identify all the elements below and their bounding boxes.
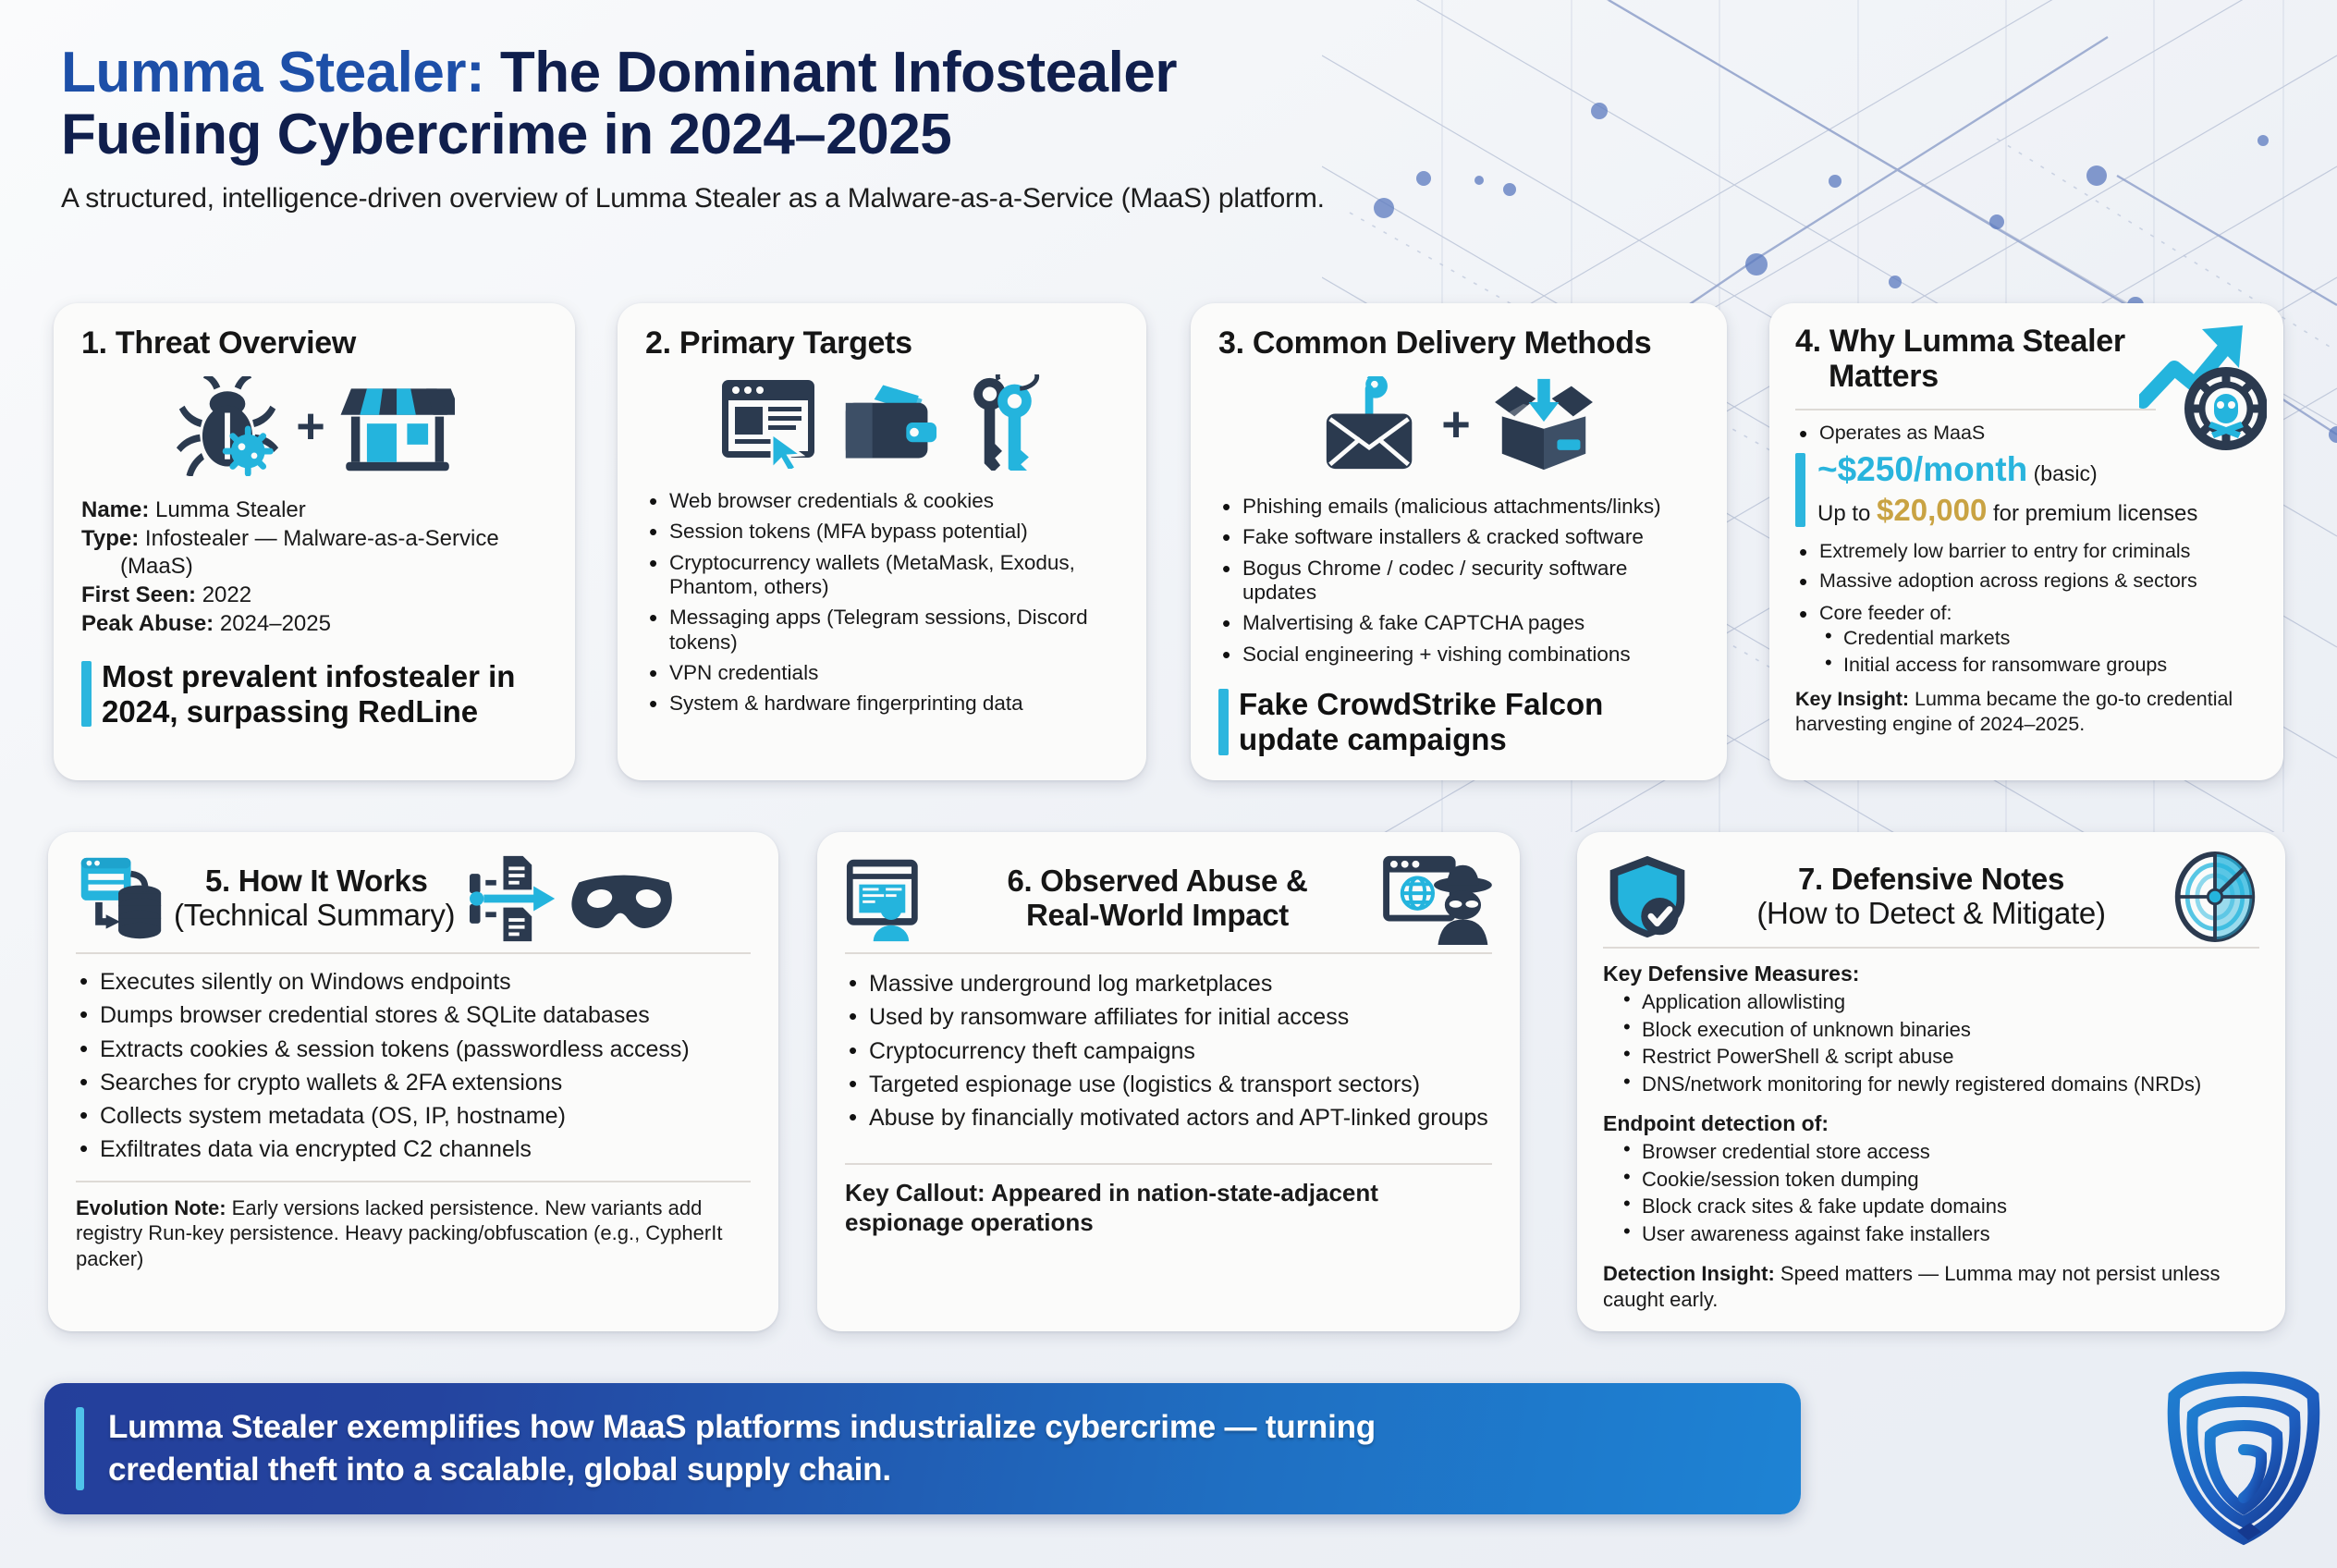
fact-name: Name: Lumma Stealer <box>81 496 547 525</box>
fact-peak-abuse: Peak Abuse: 2024–2025 <box>81 610 547 639</box>
footer-line2: credential theft into a scalable, global… <box>108 1452 891 1488</box>
card-defensive-notes[interactable]: 7. Defensive Notes (How to Detect & Miti… <box>1577 832 2285 1331</box>
card-6-divider <box>845 952 1492 954</box>
list-item: Browser credential store access <box>1618 1140 2259 1164</box>
card-5-title: 5. How It Works (Technical Summary) <box>174 864 455 933</box>
list-item: Messaging apps (Telegram sessions, Disco… <box>645 606 1119 655</box>
list-item: Executes silently on Windows endpoints <box>76 969 751 996</box>
footer-accent-bar <box>76 1407 84 1490</box>
title-brand: Lumma Stealer: <box>61 41 484 104</box>
card-7-title: 7. Defensive Notes (How to Detect & Miti… <box>1699 863 2163 931</box>
card-6-key-callout: Key Callout: Appeared in nation-state-ad… <box>845 1178 1492 1237</box>
radar-icon <box>2171 851 2259 942</box>
card-1-facts: Name: Lumma Stealer Type: Infostealer — … <box>81 496 547 639</box>
card-6-bullets: Massive underground log marketplaces Use… <box>845 971 1492 1132</box>
card-7-section1-label: Key Defensive Measures: <box>1603 962 2259 986</box>
user-record-icon <box>845 854 934 943</box>
card-4-title-line2: Matters <box>1795 359 1939 394</box>
card-7-header: 7. Defensive Notes (How to Detect & Miti… <box>1603 851 2259 943</box>
page-subtitle: A structured, intelligence-driven overvi… <box>61 183 1873 214</box>
card-4-pricing: ~$250/month (basic) Up to $20,000 for pr… <box>1795 451 2257 529</box>
card-7-divider <box>1603 947 2259 949</box>
list-item: Extracts cookies & session tokens (passw… <box>76 1036 751 1063</box>
card-6-header: 6. Observed Abuse & Real-World Impact <box>845 851 1492 947</box>
background-network-pattern <box>0 0 2337 1568</box>
card-7-title-line2: (How to Detect & Mitigate) <box>1756 896 2105 930</box>
card-2-title: 2. Primary Targets <box>645 325 1119 361</box>
list-item: Exfiltrates data via encrypted C2 channe… <box>76 1136 751 1163</box>
card-5-title-line2: (Technical Summary) <box>174 898 455 932</box>
plus-sign: + <box>296 401 325 451</box>
price-premium: Up to $20,000 for premium licenses <box>1817 493 2257 529</box>
core-feeder-label: Core feeder of: <box>1819 602 1952 624</box>
price-basic: ~$250/month (basic) <box>1817 451 2257 489</box>
list-item: Block execution of unknown binaries <box>1618 1018 2259 1042</box>
list-item: Web browser credentials & cookies <box>645 489 1119 513</box>
browser-window-icon <box>718 376 820 469</box>
footer-line1: Lumma Stealer exemplifies how MaaS platf… <box>108 1409 1376 1445</box>
list-item: Cryptocurrency theft campaigns <box>845 1038 1492 1065</box>
footer-banner: Lumma Stealer exemplifies how MaaS platf… <box>44 1383 1801 1514</box>
list-item: Block crack sites & fake update domains <box>1618 1194 2259 1219</box>
card-2-bullets: Web browser credentials & cookies Sessio… <box>645 489 1119 717</box>
list-item: Session tokens (MFA bypass potential) <box>645 520 1119 544</box>
card-1-icons: + <box>81 376 547 476</box>
page-header: Lumma Stealer: The Dominant Infostealer … <box>61 43 1873 214</box>
card-5-divider-2 <box>76 1181 751 1182</box>
card-7-section2-label: Endpoint detection of: <box>1603 1111 2259 1136</box>
card-1-callout: Most prevalent infostealer in 2024, surp… <box>81 659 547 729</box>
card-4-title-line1: 4. Why Lumma Stealer <box>1795 324 2125 359</box>
shield-check-icon <box>1603 852 1692 941</box>
list-item: Phishing emails (malicious attachments/l… <box>1218 495 1699 519</box>
card-5-header: 5. How It Works (Technical Summary) <box>76 851 751 947</box>
list-item: Credential markets <box>1819 627 2257 650</box>
card-observed-abuse[interactable]: 6. Observed Abuse & Real-World Impact <box>817 832 1520 1331</box>
card-2-icons <box>645 374 1119 471</box>
list-item: Collects system metadata (OS, IP, hostna… <box>76 1103 751 1130</box>
list-item: Core feeder of: Credential markets Initi… <box>1795 602 2257 677</box>
list-item: Dumps browser credential stores & SQLite… <box>76 1002 751 1029</box>
database-extract-icon <box>76 854 165 943</box>
card-6-divider-2 <box>845 1163 1492 1165</box>
title-line2: Fueling Cybercrime in 2024–2025 <box>61 103 951 166</box>
card-6-title-line1: 6. Observed Abuse & <box>1007 864 1307 898</box>
list-item: Extremely low barrier to entry for crimi… <box>1795 540 2257 563</box>
list-item: Cookie/session token dumping <box>1618 1168 2259 1192</box>
card-3-icons: + <box>1218 376 1699 472</box>
page-title: Lumma Stealer: The Dominant Infostealer … <box>61 43 1873 166</box>
list-item: System & hardware fingerprinting data <box>645 692 1119 716</box>
card-threat-overview[interactable]: 1. Threat Overview <box>54 303 575 780</box>
card-why-it-matters[interactable]: 4. Why Lumma Stealer Matters Operates as… <box>1769 303 2283 780</box>
mask-icon <box>569 863 679 935</box>
footer-text: Lumma Stealer exemplifies how MaaS platf… <box>108 1406 1376 1491</box>
bug-icon <box>174 376 281 476</box>
list-item: Application allowlisting <box>1618 990 2259 1014</box>
list-item: Malvertising & fake CAPTCHA pages <box>1218 611 1699 635</box>
card-5-bullets: Executes silently on Windows endpoints D… <box>76 969 751 1164</box>
list-item: Initial access for ransomware groups <box>1819 654 2257 677</box>
card-how-it-works[interactable]: 5. How It Works (Technical Summary) <box>48 832 778 1331</box>
list-item: Bogus Chrome / codec / security software… <box>1218 557 1699 606</box>
list-item: Operates as MaaS <box>1795 422 2257 445</box>
card-1-title: 1. Threat Overview <box>81 325 547 361</box>
shield-fingerprint-logo <box>2156 1359 2331 1553</box>
list-item: Used by ransomware affiliates for initia… <box>845 1004 1492 1031</box>
card-7-section1-items: Application allowlisting Block execution… <box>1603 990 2259 1096</box>
list-item: Cryptocurrency wallets (MetaMask, Exodus… <box>645 551 1119 600</box>
card-4-key-insight: Key Insight: Lumma became the go-to cred… <box>1795 687 2257 737</box>
card-delivery-methods[interactable]: 3. Common Delivery Methods + <box>1191 303 1727 780</box>
list-item: DNS/network monitoring for newly registe… <box>1618 1072 2259 1096</box>
list-item: Restrict PowerShell & script abuse <box>1618 1045 2259 1069</box>
card-5-evolution-note: Evolution Note: Early versions lacked pe… <box>76 1195 751 1272</box>
phishing-hook-envelope-icon <box>1317 376 1425 472</box>
card-5-title-line1: 5. How It Works <box>174 864 428 899</box>
card-3-callout: Fake CrowdStrike Falcon update campaigns <box>1218 687 1699 757</box>
card-5-divider <box>76 952 751 954</box>
card-4-divider <box>1795 409 2156 410</box>
card-6-title-line2: Real-World Impact <box>1026 898 1289 932</box>
data-transfer-icon <box>468 854 560 943</box>
card-3-title: 3. Common Delivery Methods <box>1218 325 1699 361</box>
fact-first-seen: First Seen: 2022 <box>81 582 547 610</box>
card-7-title-line1: 7. Defensive Notes <box>1798 862 2064 896</box>
list-item: Fake software installers & cracked softw… <box>1218 525 1699 549</box>
card-4-title: 4. Why Lumma Stealer Matters <box>1795 324 2147 394</box>
package-download-icon <box>1487 377 1600 472</box>
card-4-core-feeder: Core feeder of: Credential markets Initi… <box>1795 602 2257 677</box>
title-rest: The Dominant Infostealer <box>484 41 1177 104</box>
fact-type: Type: Infostealer — Malware-as-a-Service… <box>81 525 547 582</box>
list-item: VPN credentials <box>645 661 1119 685</box>
storefront-icon <box>340 378 455 474</box>
card-4-bullets-rest: Extremely low barrier to entry for crimi… <box>1795 540 2257 593</box>
list-item: Targeted espionage use (logistics & tran… <box>845 1072 1492 1098</box>
list-item: Abuse by financially motivated actors an… <box>845 1105 1492 1132</box>
card-6-title: 6. Observed Abuse & Real-World Impact <box>941 864 1374 933</box>
list-item: Massive underground log marketplaces <box>845 971 1492 998</box>
card-4-bullet-first: Operates as MaaS <box>1795 422 2257 445</box>
list-item: Social engineering + vishing combination… <box>1218 643 1699 667</box>
core-feeder-sublist: Credential markets Initial access for ra… <box>1819 627 2257 677</box>
list-item: Massive adoption across regions & sector… <box>1795 570 2257 593</box>
plus-sign: + <box>1441 399 1471 449</box>
card-7-detection-insight: Detection Insight: Speed matters — Lumma… <box>1603 1261 2259 1312</box>
card-primary-targets[interactable]: 2. Primary Targets <box>618 303 1146 780</box>
card-3-bullets: Phishing emails (malicious attachments/l… <box>1218 495 1699 667</box>
keys-icon <box>959 374 1046 471</box>
wallet-icon <box>840 379 938 466</box>
infographic-page: Lumma Stealer: The Dominant Infostealer … <box>0 0 2337 1568</box>
list-item: User awareness against fake installers <box>1618 1222 2259 1246</box>
list-item: Searches for crypto wallets & 2FA extens… <box>76 1070 751 1096</box>
card-7-section2-items: Browser credential store access Cookie/s… <box>1603 1140 2259 1246</box>
globe-spy-icon <box>1381 852 1492 945</box>
